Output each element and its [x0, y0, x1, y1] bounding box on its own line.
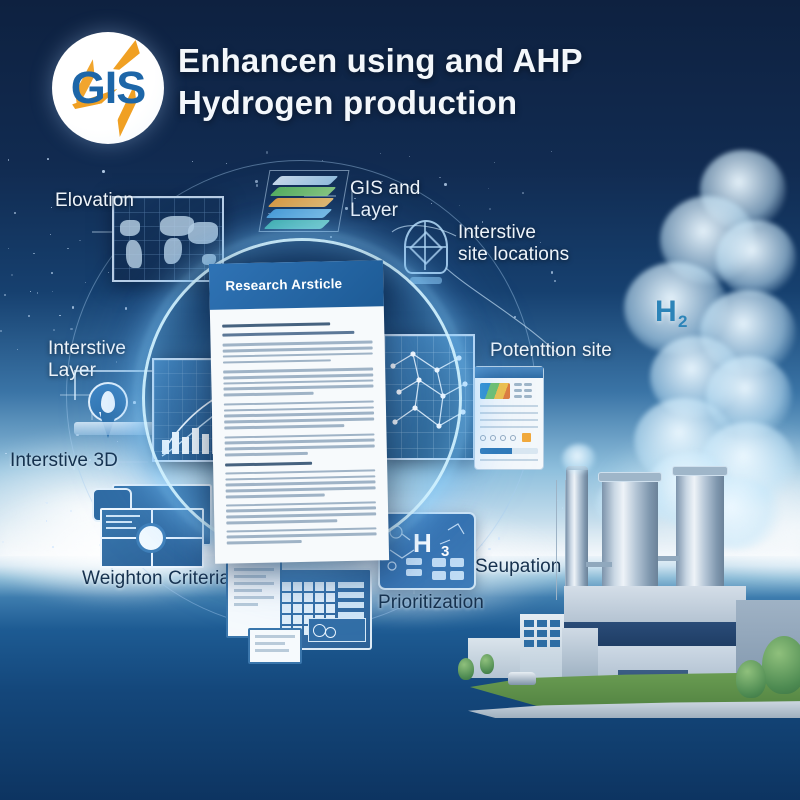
plant-pipe — [658, 556, 680, 561]
layer-glass-box — [259, 170, 350, 232]
label-site-loc-line2: site locations — [458, 244, 569, 265]
plant-storage-tank — [602, 478, 658, 588]
star — [409, 156, 410, 157]
window-content — [475, 378, 543, 466]
criteria-row — [106, 521, 132, 523]
title-line-2: Hydrogen production — [178, 84, 517, 121]
star — [459, 205, 460, 206]
gis-layer-stack-icon[interactable] — [262, 170, 346, 232]
stack-ladder — [556, 480, 566, 600]
location-pin-icon[interactable] — [80, 378, 136, 444]
star — [102, 170, 105, 173]
document-page — [226, 560, 282, 638]
star — [551, 271, 554, 274]
page-title: Enhancen using and AHP Hydrogen producti… — [178, 40, 698, 124]
criteria-hub — [136, 523, 166, 553]
label-interstive-3d: Interstive 3D — [10, 450, 118, 472]
map-landmass — [188, 222, 218, 244]
document-stack-icon[interactable] — [216, 556, 374, 666]
star — [522, 192, 524, 194]
label-site-loc-line1: Interstive — [458, 222, 536, 243]
star — [5, 453, 7, 455]
h2-symbol: H — [655, 295, 677, 329]
h2-subscript: 2 — [678, 312, 687, 332]
tree — [736, 660, 766, 698]
label-gis-and-layer-line2: Layer — [350, 200, 398, 221]
document-paragraph — [224, 400, 375, 429]
tree — [480, 654, 494, 674]
accent-swatch — [522, 433, 531, 442]
star — [53, 329, 55, 331]
window-row — [480, 412, 538, 414]
star — [488, 188, 489, 189]
tree — [762, 636, 800, 694]
document-paragraph — [224, 433, 374, 456]
progress-bar — [480, 448, 538, 454]
criteria-row — [106, 515, 140, 517]
matrix-scatter — [308, 618, 366, 642]
label-interstive-site-locations: Interstive site locations — [458, 222, 569, 267]
document-header: Research Arsticle — [209, 260, 384, 310]
gis-logo: GIS — [52, 32, 164, 144]
label-interstive-layer-line1: Interstive — [48, 338, 126, 359]
star — [28, 315, 30, 317]
document-body — [210, 306, 389, 559]
office-windows — [524, 620, 560, 647]
document-heading-1 — [222, 322, 330, 328]
matrix-side-bars — [338, 582, 364, 622]
star — [67, 248, 69, 250]
window-row — [480, 419, 538, 421]
window-toggle-row[interactable] — [480, 433, 538, 442]
legend-dots — [514, 383, 538, 399]
star — [439, 177, 441, 179]
document-paragraph — [225, 469, 376, 498]
star — [380, 153, 381, 154]
title-line-1: Enhancen using and AHP — [178, 42, 583, 79]
star — [4, 294, 6, 296]
star — [51, 272, 53, 274]
star — [489, 208, 491, 210]
research-article-document[interactable]: Research Arsticle — [209, 260, 389, 564]
star — [554, 280, 556, 282]
document-paragraph — [226, 501, 376, 524]
star — [266, 151, 268, 153]
document-paragraph — [223, 368, 374, 397]
parked-car — [508, 672, 536, 685]
mini-chart — [480, 383, 510, 399]
star — [52, 291, 53, 292]
star — [70, 510, 72, 512]
label-potenttion-site: Potenttion site — [490, 340, 612, 362]
label-elevation: Elovation — [55, 190, 134, 212]
tank-railing — [598, 472, 662, 482]
document-heading-2 — [222, 331, 354, 337]
star — [52, 546, 54, 548]
map-landmass — [120, 220, 140, 236]
document-title: Research Arsticle — [209, 260, 384, 294]
plant-pipe — [586, 562, 612, 567]
star — [192, 161, 193, 162]
label-gis-and-layer-line1: GIS and — [350, 178, 420, 199]
criteria-row — [106, 527, 136, 529]
infographic-canvas: GIS Enhancen using and AHP Hydrogen prod… — [0, 0, 800, 800]
dashboard-window-icon[interactable] — [474, 366, 544, 470]
star — [79, 240, 81, 242]
office-side — [562, 628, 598, 678]
window-titlebar — [475, 367, 543, 378]
document-paragraph — [223, 341, 373, 364]
document-page — [248, 628, 302, 664]
star — [46, 502, 48, 504]
star — [72, 306, 74, 308]
stack-steam — [562, 444, 596, 474]
window-row — [480, 405, 538, 407]
document-paragraph — [226, 527, 376, 544]
tank-railing — [672, 466, 728, 476]
window-row — [480, 426, 538, 428]
plant-storage-tank — [676, 472, 724, 588]
logo-text: GIS — [52, 65, 164, 110]
window-row — [480, 459, 538, 461]
tree — [458, 658, 474, 680]
plant-smokestack — [566, 466, 588, 596]
map-landmass — [126, 240, 142, 268]
document-section-heading — [225, 461, 312, 466]
